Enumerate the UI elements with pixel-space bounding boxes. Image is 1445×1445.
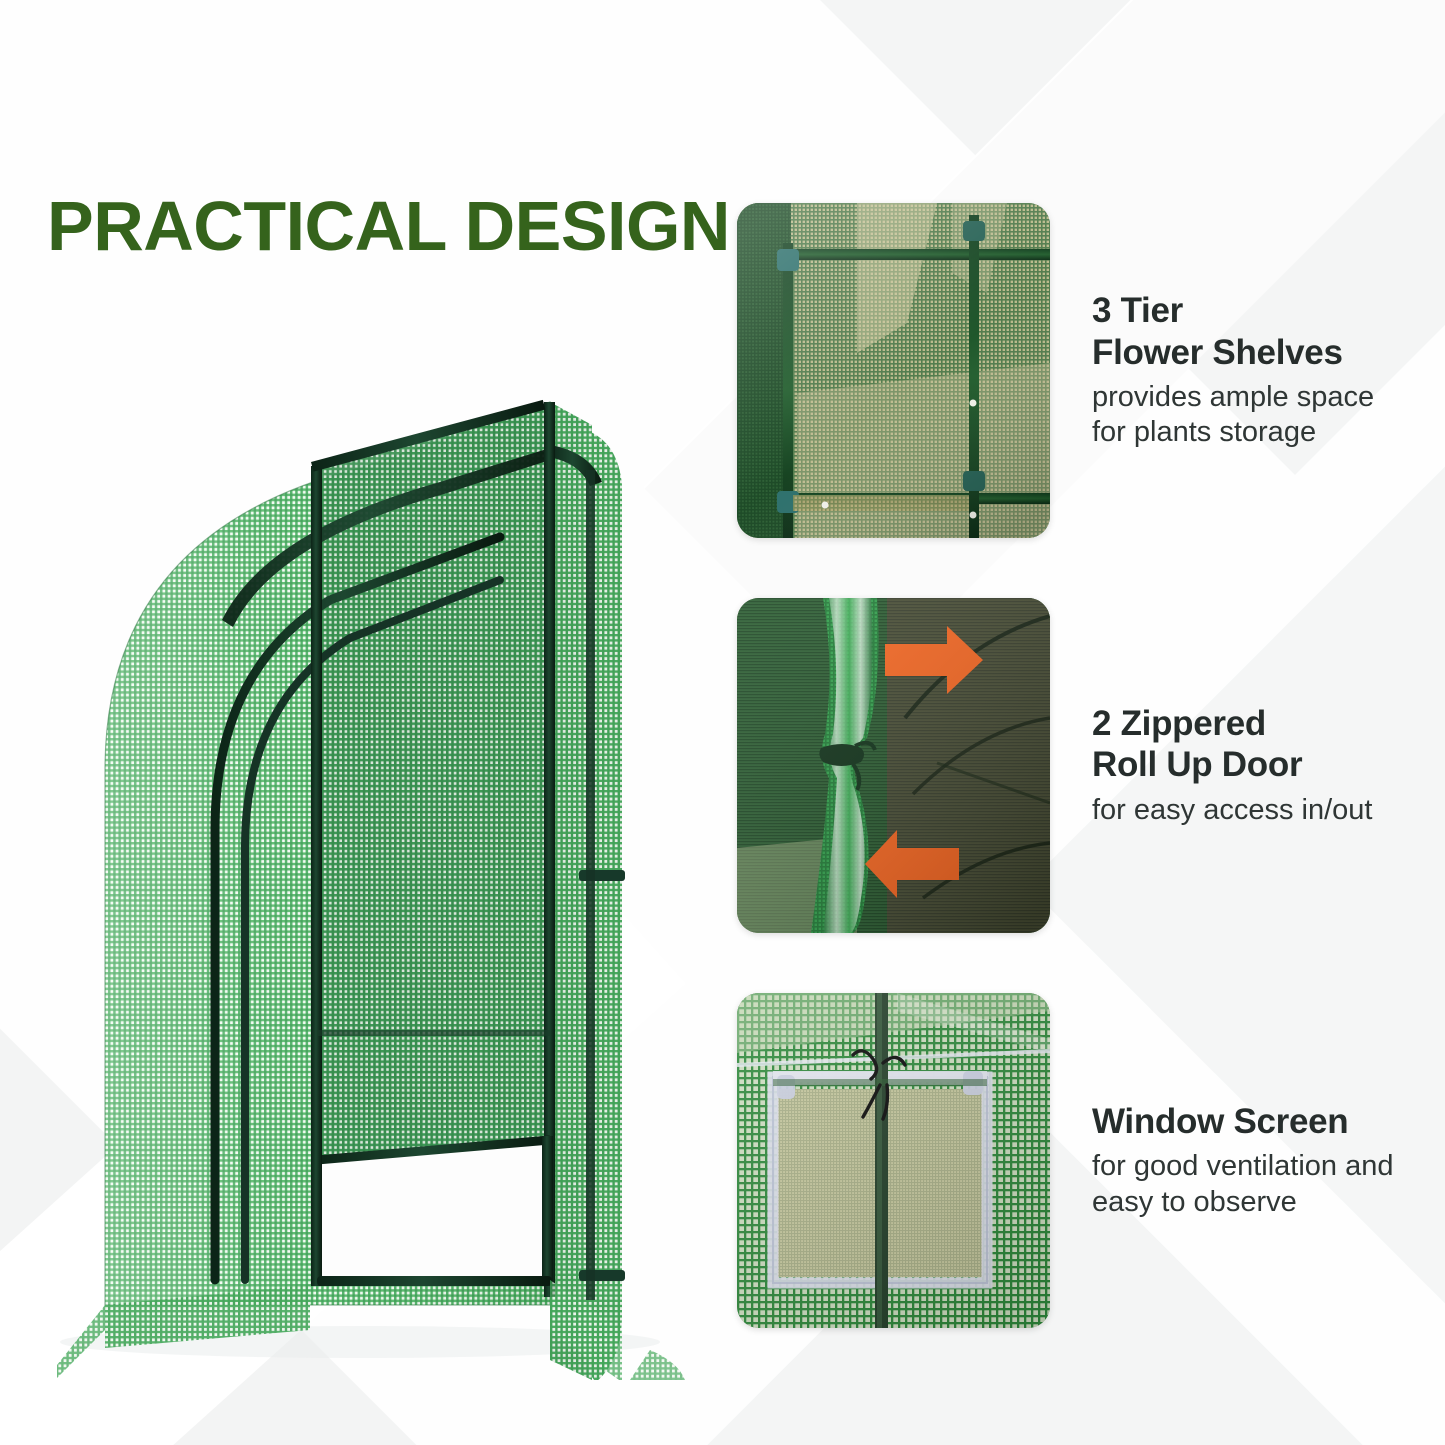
feature-text-block: 3 Tier Flower Shelves provides ample spa… [1092,290,1374,450]
feature-sub-line-1: provides ample space [1092,380,1374,415]
feature-heading-line-1: 2 Zippered [1092,703,1372,744]
feature-heading-line-1: Window Screen [1092,1101,1394,1142]
door-strap-upper [579,870,625,881]
feature-sub-line-1: for good ventilation and [1092,1149,1394,1184]
mid-rails [317,1030,552,1036]
feature-text-block: Window Screen for good ventilation and e… [1092,1101,1394,1220]
infographic-page: PRACTICAL DESIGN [0,0,1445,1445]
feature-sub-line-2: easy to observe [1092,1185,1394,1220]
feature-sub-line-2: for plants storage [1092,415,1374,450]
feature-window-screen: Window Screen for good ventilation and e… [737,993,1427,1328]
ground-bar [317,1276,552,1286]
door-strap-lower [579,1270,625,1281]
doorway-opening [311,1136,553,1286]
feature-two-zippered-roll-up-door: 2 Zippered Roll Up Door for easy access … [737,598,1427,933]
thumbnail-shelves-photo[interactable] [737,203,1050,538]
thumbnail-roll-up-door-photo[interactable] [737,598,1050,933]
product-illustration [30,270,700,1380]
thumbnail-window-screen-photo[interactable] [737,993,1050,1328]
feature-text-block: 2 Zippered Roll Up Door for easy access … [1092,703,1372,828]
rolled-door-column [579,430,625,1380]
feature-three-tier-flower-shelves: 3 Tier Flower Shelves provides ample spa… [737,203,1427,538]
page-title: PRACTICAL DESIGN [47,186,730,266]
feature-sub-line-1: for easy access in/out [1092,793,1372,828]
feature-heading-line-1: 3 Tier [1092,290,1374,331]
feature-heading-line-2: Roll Up Door [1092,744,1372,785]
feature-heading-line-2: Flower Shelves [1092,332,1374,373]
